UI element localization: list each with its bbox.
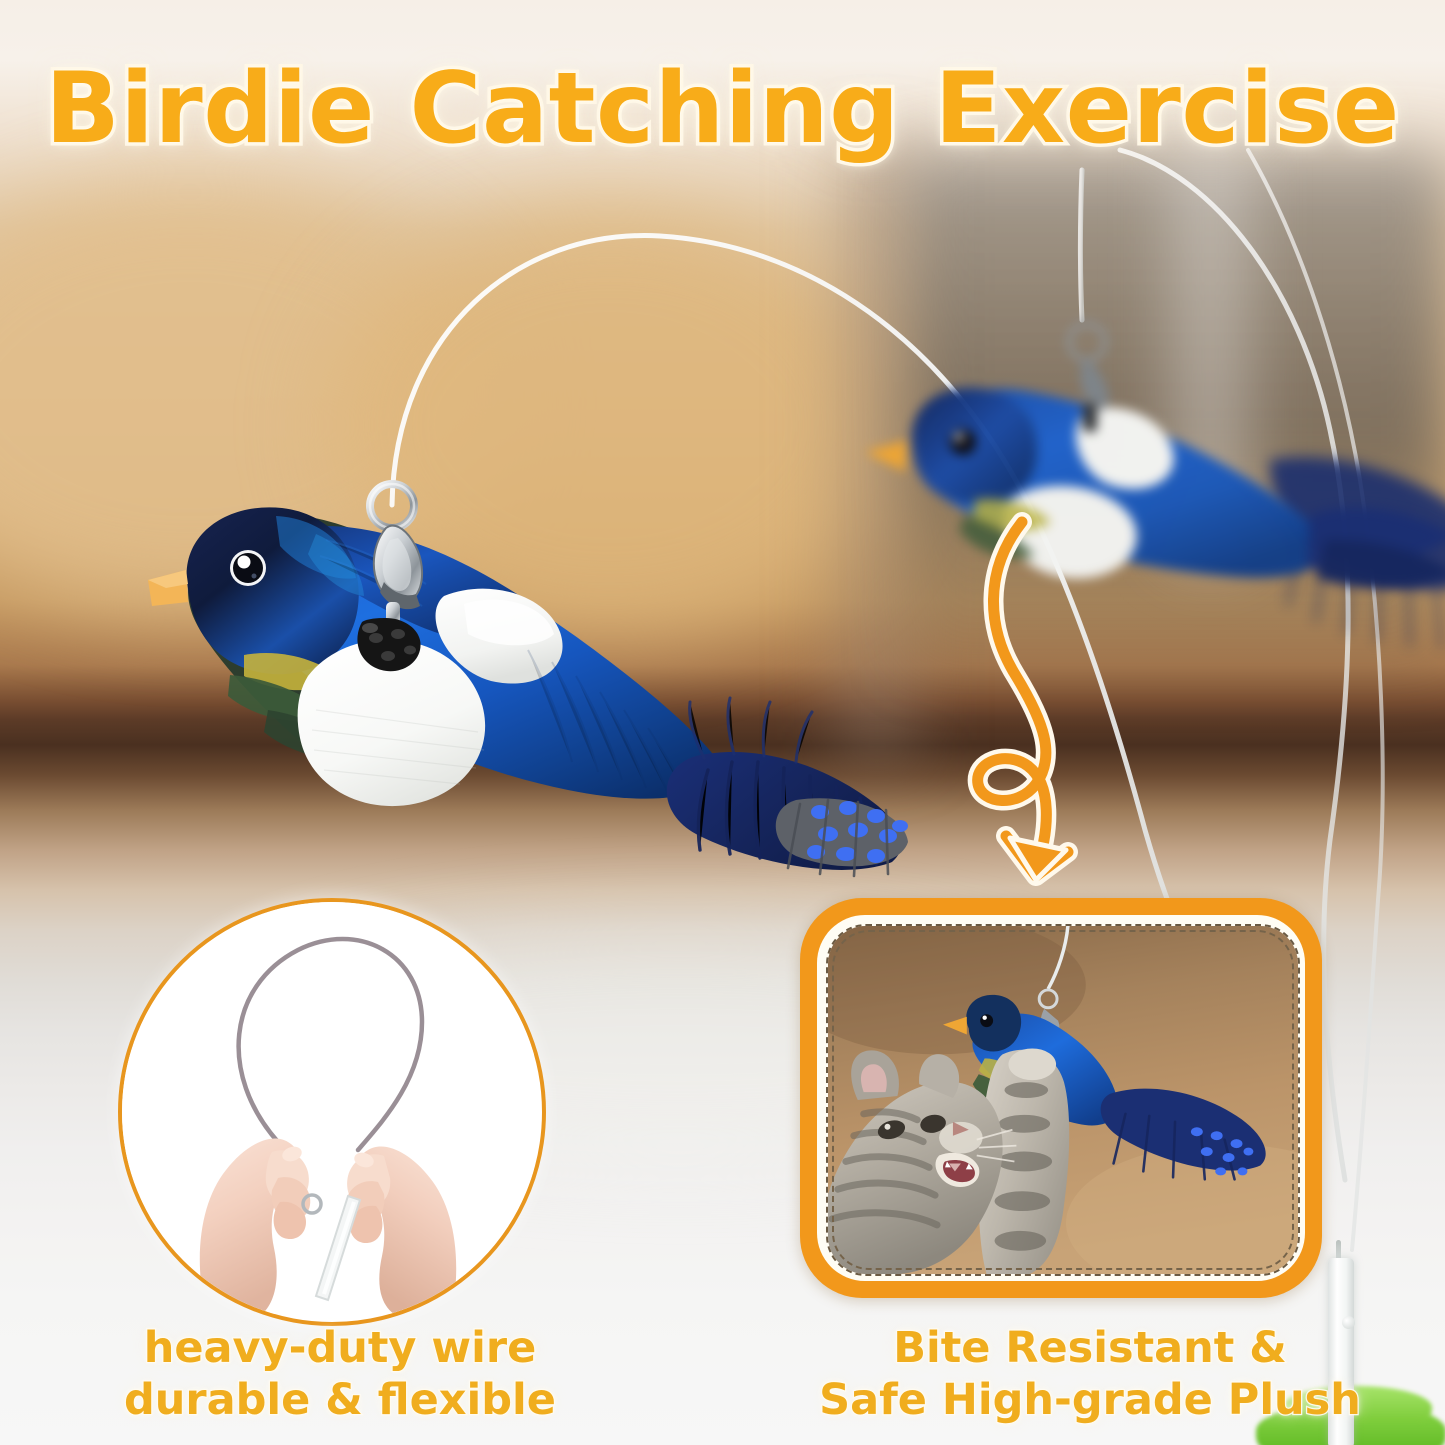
inset-cat-white-border <box>817 915 1305 1281</box>
caption-bite-resistant: Bite Resistant & Safe High-grade Plush <box>760 1322 1420 1427</box>
page-title: Birdie Catching Exercise <box>0 52 1445 166</box>
caption-right-line2: Safe High-grade Plush <box>760 1374 1420 1426</box>
inset-cat-photo <box>826 924 1300 1276</box>
inset-cat-play[interactable] <box>800 898 1322 1298</box>
caption-left-line2: durable & flexible <box>40 1374 640 1426</box>
main-bird-toy <box>148 470 908 970</box>
curly-down-arrow-icon <box>940 500 1120 910</box>
inset-wire-demo[interactable] <box>118 898 546 1326</box>
product-marketing-image: Birdie Catching Exercise heavy-duty wire… <box>0 0 1445 1445</box>
caption-left-line1: heavy-duty wire <box>40 1322 640 1374</box>
caption-heavy-duty-wire: heavy-duty wire durable & flexible <box>40 1322 640 1427</box>
caption-right-line1: Bite Resistant & <box>760 1322 1420 1374</box>
